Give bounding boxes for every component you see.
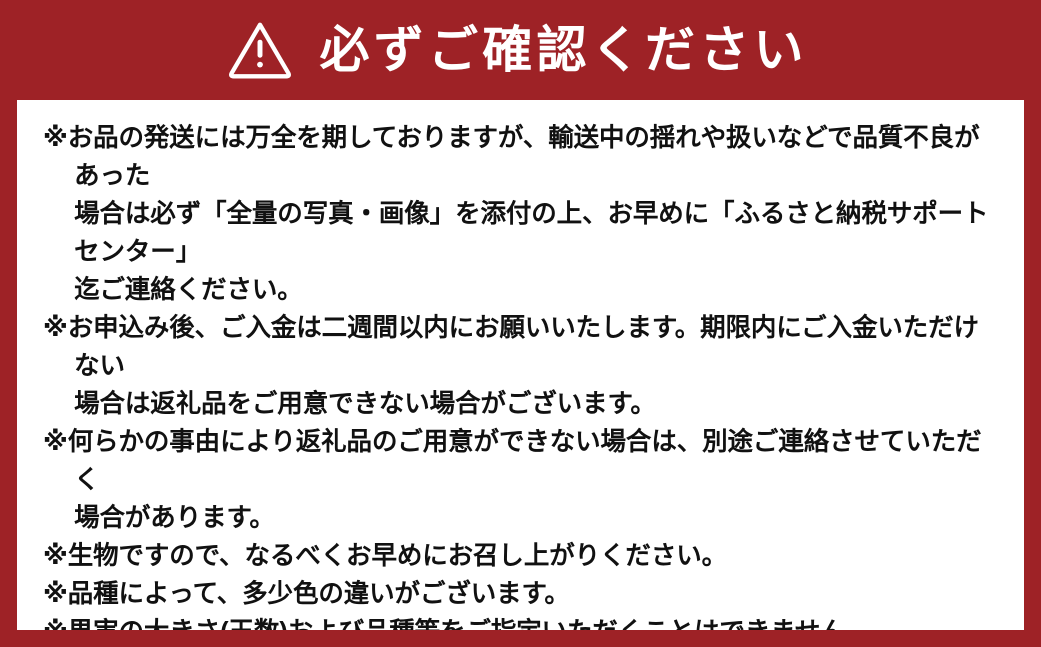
list-item: ※生物ですので、なるべくお早めにお召し上がりください。: [43, 538, 998, 576]
notes-list: ※お品の発送には万全を期しておりますが、輸送中の揺れや扱いなどで品質不良があった…: [43, 120, 998, 630]
notice-header: 必ずご確認ください: [0, 0, 1041, 100]
list-item: ※お品の発送には万全を期しておりますが、輸送中の揺れや扱いなどで品質不良があった…: [43, 120, 998, 310]
warning-triangle-icon: [227, 17, 293, 83]
list-item: ※何らかの事由により返礼品のご用意ができない場合は、別途ご連絡させていただく 場…: [43, 424, 998, 538]
page-title: 必ずご確認ください: [315, 25, 808, 75]
notice-card: 必ずご確認ください ※お品の発送には万全を期しておりますが、輸送中の揺れや扱いな…: [0, 0, 1041, 647]
list-item: ※果実の大きさ(玉数)および品種等をご指定いただくことはできません。: [43, 614, 998, 630]
list-item: ※品種によって、多少色の違いがございます。: [43, 576, 998, 614]
list-item: ※お申込み後、ご入金は二週間以内にお願いいたします。期限内にご入金いただけない …: [43, 310, 998, 424]
notice-body: ※お品の発送には万全を期しておりますが、輸送中の揺れや扱いなどで品質不良があった…: [17, 100, 1024, 630]
